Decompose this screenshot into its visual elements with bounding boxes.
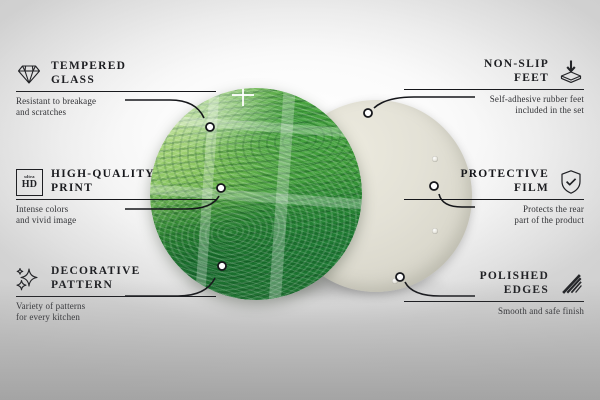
vignette-overlay (0, 0, 600, 400)
product-infographic: TEMPERED GLASS Resistant to breakage and… (0, 0, 600, 400)
